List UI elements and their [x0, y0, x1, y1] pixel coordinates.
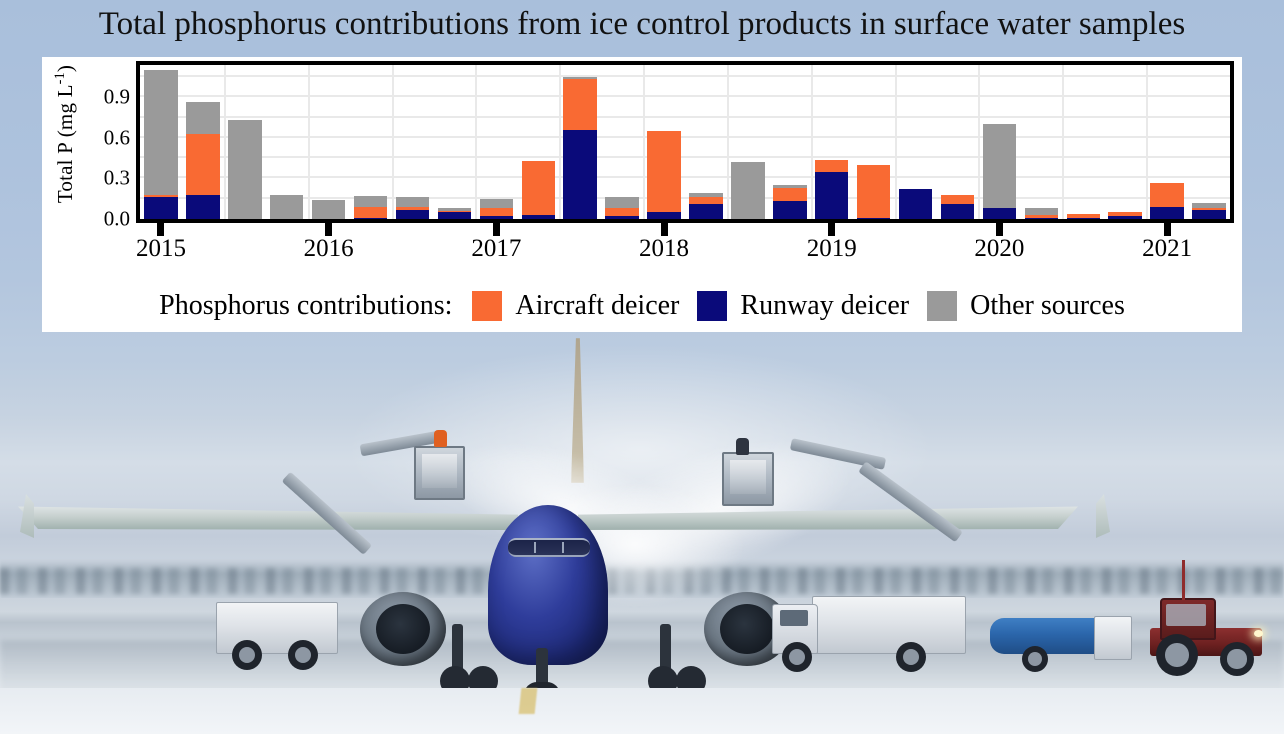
- tractor-front-wheel: [1220, 642, 1254, 676]
- bar-stack[interactable]: [1025, 208, 1059, 219]
- bar-segment-aircraft-deicer: [605, 208, 639, 216]
- bar-stack[interactable]: [647, 131, 681, 219]
- bar-segment-aircraft-deicer: [480, 208, 514, 216]
- legend-item-aircraft-deicer[interactable]: Aircraft deicer: [472, 290, 679, 322]
- bar-segment-runway-deicer: [354, 218, 388, 219]
- tractor-rear-wheel: [1156, 634, 1198, 676]
- y-tick-label: 0.0: [70, 207, 130, 232]
- x-tick-label: 2017: [471, 235, 521, 263]
- bar-segment-runway-deicer: [1150, 207, 1184, 219]
- bar-stack[interactable]: [312, 200, 346, 219]
- bar-segment-aircraft-deicer: [857, 165, 891, 218]
- engine-left: [360, 592, 446, 666]
- bar-segment-runway-deicer: [983, 208, 1017, 219]
- bar-stack[interactable]: [563, 77, 597, 219]
- aircraft-nose: [488, 505, 608, 665]
- bar-stack[interactable]: [1067, 214, 1101, 219]
- bar-stack[interactable]: [480, 199, 514, 219]
- taxiway-marking: [519, 688, 538, 714]
- bar-stack[interactable]: [1192, 203, 1226, 219]
- legend-label-other-sources: Other sources: [970, 290, 1125, 322]
- legend-label-aircraft-deicer: Aircraft deicer: [515, 290, 679, 322]
- bar-stack[interactable]: [1150, 183, 1184, 219]
- x-tick-label: 2019: [807, 235, 857, 263]
- deicing-basket-right: [722, 452, 774, 506]
- bar-segment-runway-deicer: [605, 216, 639, 219]
- bar-segment-runway-deicer: [899, 189, 933, 219]
- bar-stack[interactable]: [186, 102, 220, 220]
- bar-series: [140, 65, 1230, 219]
- x-tick-label: 2020: [974, 235, 1024, 263]
- bar-segment-aircraft-deicer: [1150, 183, 1184, 207]
- truck-window: [780, 610, 808, 626]
- bar-segment-aircraft-deicer: [773, 188, 807, 202]
- tank-trailer-box: [1094, 616, 1132, 660]
- legend-item-other-sources[interactable]: Other sources: [927, 290, 1125, 322]
- bar-segment-runway-deicer: [857, 218, 891, 219]
- bar-stack[interactable]: [270, 195, 304, 219]
- bar-segment-other-sources: [605, 197, 639, 208]
- bar-stack[interactable]: [228, 120, 262, 219]
- tractor-headlight: [1254, 630, 1263, 637]
- bar-segment-other-sources: [186, 102, 220, 134]
- legend-item-runway-deicer[interactable]: Runway deicer: [697, 290, 909, 322]
- bar-segment-runway-deicer: [647, 212, 681, 219]
- runway-deicer-tank: [990, 618, 1110, 654]
- bar-segment-runway-deicer: [186, 195, 220, 219]
- bar-segment-other-sources: [396, 197, 430, 206]
- bar-stack[interactable]: [605, 197, 639, 219]
- bar-segment-aircraft-deicer: [647, 131, 681, 212]
- tractor-glass: [1166, 604, 1206, 626]
- deicing-basket-left: [414, 446, 465, 500]
- bar-segment-runway-deicer: [1108, 216, 1142, 219]
- bar-segment-other-sources: [731, 162, 765, 219]
- bar-segment-runway-deicer: [1192, 210, 1226, 219]
- bar-segment-runway-deicer: [396, 210, 430, 219]
- bar-stack[interactable]: [144, 70, 178, 219]
- legend-swatch-aircraft-deicer: [472, 291, 502, 321]
- worker-right: [736, 438, 749, 455]
- bar-segment-other-sources: [983, 124, 1017, 208]
- bar-stack[interactable]: [899, 189, 933, 219]
- truck-wheel: [782, 642, 812, 672]
- bar-segment-aircraft-deicer: [522, 161, 556, 215]
- bar-segment-runway-deicer: [438, 212, 472, 219]
- bar-segment-aircraft-deicer: [815, 160, 849, 172]
- y-tick-label: 0.9: [70, 85, 130, 110]
- bar-stack[interactable]: [522, 161, 556, 219]
- x-tick-label: 2015: [136, 235, 186, 263]
- y-tick-label: 0.6: [70, 125, 130, 150]
- bar-segment-other-sources: [354, 196, 388, 207]
- bar-stack[interactable]: [396, 197, 430, 219]
- bar-segment-runway-deicer: [563, 130, 597, 219]
- bar-segment-runway-deicer: [941, 204, 975, 219]
- bar-segment-runway-deicer: [1067, 218, 1101, 219]
- bar-stack[interactable]: [731, 162, 765, 219]
- bar-segment-other-sources: [228, 120, 262, 219]
- truck-wheel: [232, 640, 262, 670]
- bar-stack[interactable]: [815, 160, 849, 219]
- bar-stack[interactable]: [773, 185, 807, 219]
- bar-segment-runway-deicer: [689, 204, 723, 219]
- legend-swatch-runway-deicer: [697, 291, 727, 321]
- bar-segment-other-sources: [480, 199, 514, 208]
- bar-stack[interactable]: [941, 195, 975, 219]
- chart-area: Total P (mg L-1) 0.00.30.60.9 2015201620…: [42, 57, 1242, 277]
- bar-segment-other-sources: [270, 195, 304, 219]
- x-tick-label: 2016: [304, 235, 354, 263]
- bar-stack[interactable]: [354, 196, 388, 219]
- bar-stack[interactable]: [689, 193, 723, 219]
- bar-stack[interactable]: [983, 124, 1017, 219]
- bar-segment-other-sources: [312, 200, 346, 219]
- x-tick-label: 2021: [1142, 235, 1192, 263]
- bar-segment-runway-deicer: [1025, 218, 1059, 219]
- bar-segment-aircraft-deicer: [563, 79, 597, 130]
- bar-segment-runway-deicer: [522, 215, 556, 219]
- legend-title: Phosphorus contributions:: [159, 290, 452, 322]
- plot-area: [136, 61, 1234, 223]
- bar-segment-aircraft-deicer: [354, 207, 388, 218]
- figure-root: Total phosphorus contributions from ice …: [0, 0, 1284, 734]
- chart-panel: Total P (mg L-1) 0.00.30.60.9 2015201620…: [42, 57, 1242, 332]
- truck-wheel: [288, 640, 318, 670]
- y-tick-label: 0.3: [70, 166, 130, 191]
- bar-segment-runway-deicer: [815, 172, 849, 219]
- bar-segment-runway-deicer: [144, 197, 178, 219]
- bar-stack[interactable]: [857, 165, 891, 219]
- legend-label-runway-deicer: Runway deicer: [740, 290, 909, 322]
- cockpit-windows: [508, 538, 590, 557]
- bar-segment-runway-deicer: [773, 201, 807, 219]
- legend-swatch-other-sources: [927, 291, 957, 321]
- bar-segment-aircraft-deicer: [186, 134, 220, 195]
- bar-segment-other-sources: [144, 70, 178, 194]
- bar-segment-runway-deicer: [480, 216, 514, 219]
- chart-legend: Phosphorus contributions: Aircraft deice…: [42, 279, 1242, 332]
- x-tick-label: 2018: [639, 235, 689, 263]
- bar-segment-aircraft-deicer: [941, 195, 975, 204]
- worker-left: [434, 430, 447, 447]
- tank-wheel: [1022, 646, 1048, 672]
- figure-title: Total phosphorus contributions from ice …: [0, 6, 1284, 43]
- tractor-exhaust: [1182, 560, 1185, 600]
- snow-foreground: [0, 688, 1284, 734]
- deicer-truck-right-body: [812, 596, 966, 654]
- bar-segment-other-sources: [1025, 208, 1059, 215]
- truck-wheel: [896, 642, 926, 672]
- bar-segment-aircraft-deicer: [689, 197, 723, 204]
- bar-stack[interactable]: [438, 208, 472, 219]
- bar-stack[interactable]: [1108, 212, 1142, 219]
